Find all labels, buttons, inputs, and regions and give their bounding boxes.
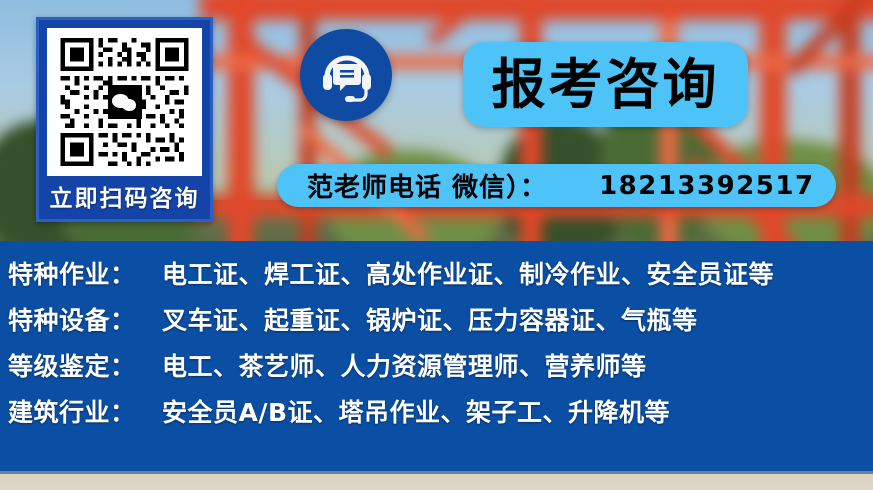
page-title: 报考咨询 [492, 58, 720, 112]
services-list: 特种作业： 电工证、焊工证、高处作业证、制冷作业、安全员证等 特种设备： 叉车证… [0, 241, 873, 471]
service-value: 电工证、焊工证、高处作业证、制冷作业、安全员证等 [154, 255, 774, 291]
contact-phone-number[interactable]: 18213392517 [547, 171, 815, 201]
contact-label: 范老师电话 微信）： [277, 167, 547, 204]
service-label: 建筑行业： [8, 393, 154, 429]
wechat-qr-code-icon[interactable] [53, 33, 196, 171]
service-label: 特种设备： [8, 301, 154, 337]
title-badge: 报考咨询 [463, 42, 748, 127]
services-panel: 特种作业： 电工证、焊工证、高处作业证、制冷作业、安全员证等 特种设备： 叉车证… [0, 241, 873, 471]
crane-beam [840, 0, 860, 270]
service-row: 特种设备： 叉车证、起重证、锅炉证、压力容器证、气瓶等 [8, 301, 873, 347]
headset-support-icon [300, 29, 392, 121]
wechat-logo-icon [108, 85, 142, 119]
headset-glyph [319, 47, 375, 103]
crane-beam [520, 0, 542, 270]
service-row: 等级鉴定： 电工、茶艺师、人力资源管理师、营养师等 [8, 347, 873, 393]
service-label: 等级鉴定： [8, 347, 154, 383]
service-row: 建筑行业： 安全员A/B证、塔吊作业、架子工、升降机等 [8, 393, 873, 439]
qr-caption: 立即扫码咨询 [39, 179, 210, 213]
service-row: 特种作业： 电工证、焊工证、高处作业证、制冷作业、安全员证等 [8, 255, 873, 301]
qr-code-card[interactable]: 立即扫码咨询 [36, 17, 213, 222]
contact-bar[interactable]: 范老师电话 微信）： 18213392517 [277, 164, 836, 207]
service-label: 特种作业： [8, 255, 154, 291]
service-value: 安全员A/B证、塔吊作业、架子工、升降机等 [154, 393, 670, 429]
qr-code-area[interactable] [47, 28, 202, 176]
crane-beam [200, 0, 873, 20]
panel-bottom-edge [0, 471, 873, 474]
crane-beam [660, 0, 678, 270]
advertisement-poster: 立即扫码咨询 报考咨询 范老师电话 微信）： 18213392517 特种作业：… [0, 0, 873, 490]
service-value: 叉车证、起重证、锅炉证、压力容器证、气瓶等 [154, 301, 698, 337]
service-value: 电工、茶艺师、人力资源管理师、营养师等 [154, 347, 647, 383]
